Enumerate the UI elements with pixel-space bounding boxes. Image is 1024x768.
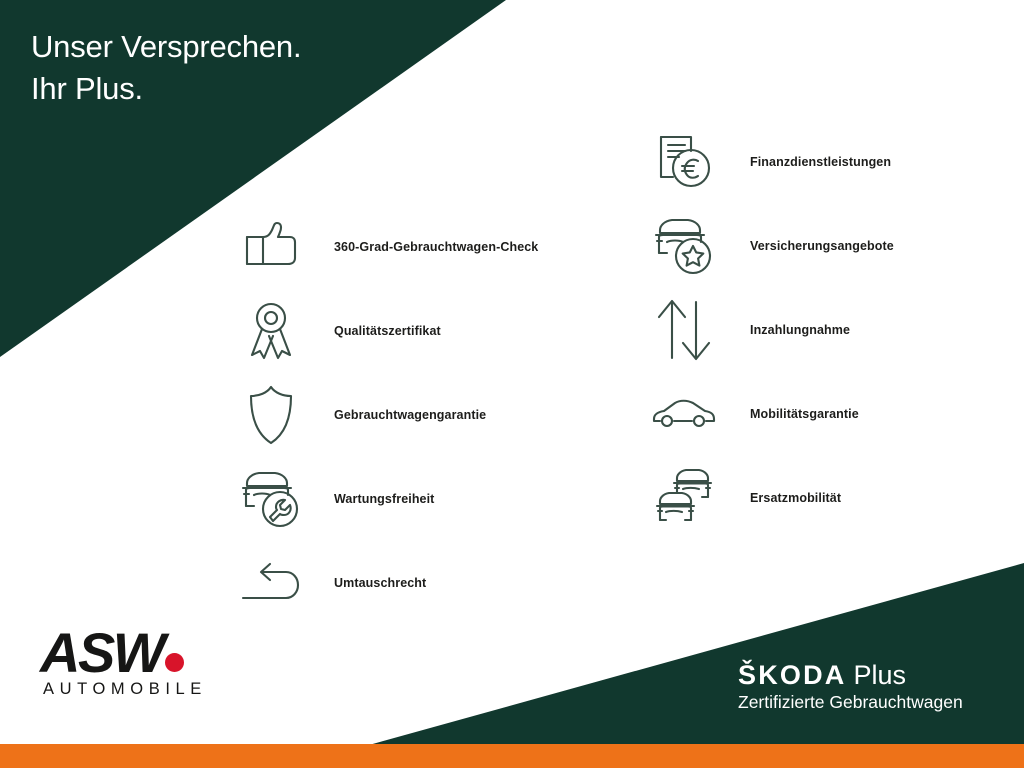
feature-label: Qualitätszertifikat [334,324,441,338]
feature-item-wartungsfreiheit: Wartungsfreiheit [232,457,538,541]
feature-item-versicherungsangebote: Versicherungsangebote [645,204,894,288]
car-wrench-icon [232,464,310,534]
feature-list-right: Finanzdienstleistungen Versicherungsange… [645,120,894,540]
feature-label: Mobilitätsgarantie [750,407,859,421]
document-euro-icon [645,127,723,197]
skoda-logo-line-1: ŠKODAPlus [738,660,963,690]
asw-logo: ASW AUTOMOBILE [40,624,207,699]
feature-item-qualitaetszertifikat: Qualitätszertifikat [232,289,538,373]
feature-label: Versicherungsangebote [750,239,894,253]
headline-line-1: Unser Versprechen. [31,29,301,64]
skoda-tagline: Zertifizierte Gebrauchtwagen [738,691,963,713]
feature-item-inzahlungnahme: Inzahlungnahme [645,288,894,372]
feature-label: Umtauschrecht [334,576,426,590]
headline-line-2: Ihr Plus. [31,68,301,110]
skoda-plus-logo: ŠKODAPlus Zertifizierte Gebrauchtwagen [738,660,963,713]
up-down-arrows-icon [645,295,723,365]
two-cars-icon [645,463,723,533]
feature-item-ersatzmobilitaet: Ersatzmobilität [645,456,894,540]
award-rosette-icon [232,296,310,366]
feature-item-gebrauchtwagengarantie: Gebrauchtwagengarantie [232,373,538,457]
asw-wordmark: ASW [40,624,163,682]
asw-red-dot-icon [165,653,184,672]
car-side-icon [645,379,723,449]
skoda-plus-word: Plus [854,660,907,690]
skoda-brandmark: ŠKODA [738,660,847,690]
feature-item-umtauschrecht: Umtauschrecht [232,541,538,625]
asw-wordmark-row: ASW [40,624,207,682]
feature-item-360-grad-check: 360-Grad-Gebrauchtwagen-Check [232,205,538,289]
feature-label: Ersatzmobilität [750,491,841,505]
promo-banner: Unser Versprechen. Ihr Plus. 360-Grad-Ge… [0,0,1024,768]
feature-label: 360-Grad-Gebrauchtwagen-Check [334,240,538,254]
feature-item-finanzdienstleistungen: Finanzdienstleistungen [645,120,894,204]
u-turn-arrow-icon [232,548,310,618]
thumbs-up-icon [232,212,310,282]
car-star-icon [645,211,723,281]
feature-label: Finanzdienstleistungen [750,155,891,169]
headline: Unser Versprechen. Ihr Plus. [31,26,301,110]
shield-icon [232,380,310,450]
feature-label: Inzahlungnahme [750,323,850,337]
feature-list-left: 360-Grad-Gebrauchtwagen-Check Qualitätsz… [232,205,538,625]
orange-accent-bar [0,744,1024,768]
feature-label: Gebrauchtwagengarantie [334,408,486,422]
feature-item-mobilitaetsgarantie: Mobilitätsgarantie [645,372,894,456]
feature-label: Wartungsfreiheit [334,492,434,506]
